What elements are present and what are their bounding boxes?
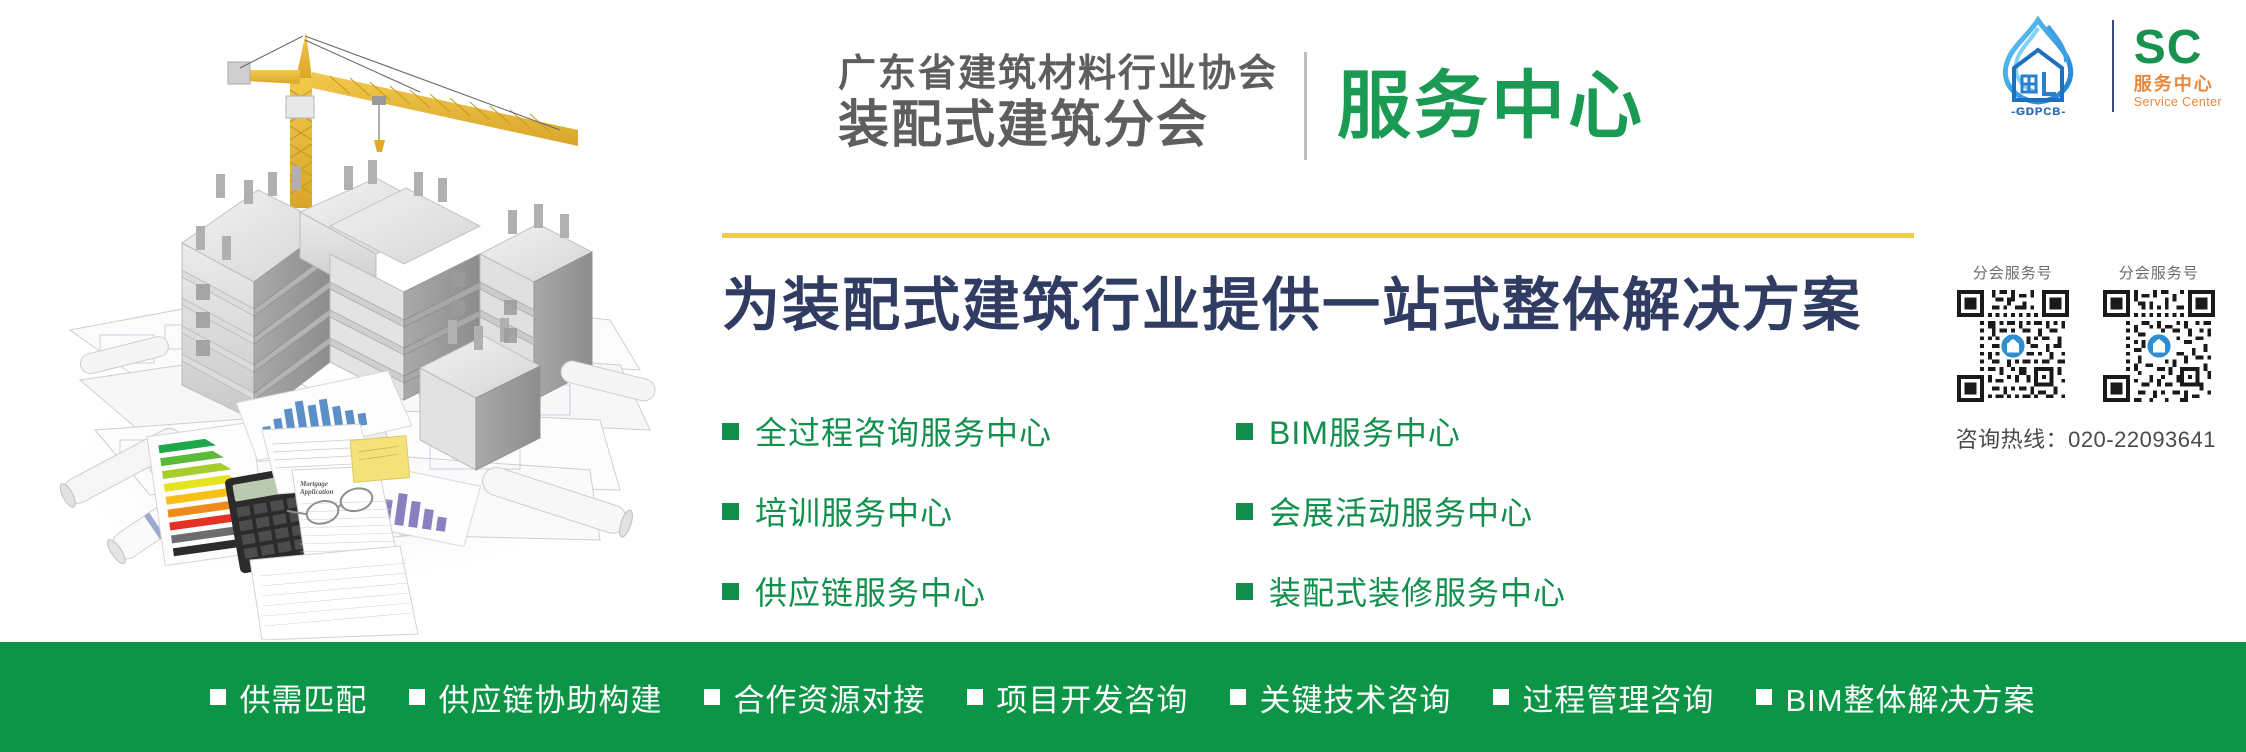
- footer-item[interactable]: 供需匹配: [210, 675, 367, 720]
- association-name-line1: 广东省建筑材料行业协会: [838, 52, 1278, 96]
- qr-code-cell[interactable]: 分会服务号: [2103, 262, 2215, 402]
- service-column-left: 全过程咨询服务中心 培训服务中心 供应链服务中心: [722, 408, 1052, 614]
- qr-caption: 分会服务号: [1973, 262, 2053, 283]
- gdpcb-abbr-label: -GDPCB-: [1986, 106, 2092, 118]
- service-item-label: 会展活动服务中心: [1269, 488, 1533, 534]
- yellow-divider-rule: [722, 233, 1914, 238]
- sc-initials: SC: [2134, 24, 2203, 72]
- bullet-square-icon: [1236, 583, 1253, 600]
- tower-crane: [228, 32, 578, 208]
- bullet-square-icon: [722, 503, 739, 520]
- bullet-square-icon: [722, 583, 739, 600]
- footer-item[interactable]: BIM整体解决方案: [1756, 675, 2035, 720]
- construction-site-illustration: Mortgage Application: [0, 0, 660, 640]
- qr-code-cell[interactable]: 分会服务号: [1957, 262, 2069, 402]
- gdpcb-house-flame-logo-icon: -GDPCB- -GDPCB-: [1986, 14, 2092, 118]
- footer-item-label: 关键技术咨询: [1259, 675, 1451, 720]
- bullet-square-icon: [210, 689, 226, 705]
- sc-logo-text-group: SC 服务中心 Service Center: [2134, 24, 2222, 109]
- bullet-square-icon: [1230, 689, 1246, 705]
- svg-text:Mortgage: Mortgage: [299, 480, 328, 488]
- footer-item-label: 供应链协助构建: [438, 675, 662, 720]
- footer-service-bar: 供需匹配 供应链协助构建 合作资源对接 项目开发咨询 关键技术咨询 过程管理咨询…: [0, 642, 2246, 752]
- footer-item[interactable]: 合作资源对接: [704, 675, 925, 720]
- bullet-square-icon: [967, 689, 983, 705]
- qr-contact-block: 分会服务号: [1956, 262, 2216, 454]
- association-branch-name: 装配式建筑分会: [838, 96, 1278, 153]
- service-center-list: 全过程咨询服务中心 培训服务中心 供应链服务中心 BIM服务中心 会展活动服务中…: [722, 408, 1566, 614]
- bullet-square-icon: [722, 423, 739, 440]
- bullet-square-icon: [704, 689, 720, 705]
- qr-caption: 分会服务号: [2119, 262, 2199, 283]
- service-column-right: BIM服务中心 会展活动服务中心 装配式装修服务中心: [1236, 408, 1566, 614]
- qr-code-image-1[interactable]: [1957, 290, 2069, 402]
- association-name-lines: 广东省建筑材料行业协会 装配式建筑分会: [838, 52, 1278, 153]
- bullet-square-icon: [1236, 423, 1253, 440]
- service-item-label: 全过程咨询服务中心: [755, 408, 1052, 454]
- bullet-square-icon: [409, 689, 425, 705]
- service-item[interactable]: 会展活动服务中心: [1236, 488, 1566, 534]
- banner-root: Mortgage Application: [0, 0, 2246, 752]
- service-item[interactable]: 装配式装修服务中心: [1236, 568, 1566, 614]
- service-item-label: 供应链服务中心: [755, 568, 986, 614]
- bullet-square-icon: [1756, 689, 1772, 705]
- service-item-label: 培训服务中心: [755, 488, 953, 534]
- sc-chinese-label: 服务中心: [2134, 75, 2214, 93]
- footer-item[interactable]: 关键技术咨询: [1230, 675, 1451, 720]
- bullet-square-icon: [1236, 503, 1253, 520]
- footer-item[interactable]: 过程管理咨询: [1493, 675, 1714, 720]
- service-item-label: BIM服务中心: [1269, 408, 1461, 454]
- footer-item-label: 供需匹配: [239, 675, 367, 720]
- svg-text:Application: Application: [299, 488, 334, 496]
- main-headline: 为装配式建筑行业提供一站式整体解决方案: [722, 258, 1862, 342]
- logo-vertical-divider: [2112, 20, 2114, 112]
- title-vertical-divider: [1304, 52, 1307, 160]
- hotline-text: 咨询热线：020-22093641: [1956, 422, 2216, 454]
- association-title-block: 广东省建筑材料行业协会 装配式建筑分会 服务中心: [838, 46, 1645, 160]
- footer-item[interactable]: 供应链协助构建: [409, 675, 662, 720]
- sc-english-label: Service Center: [2134, 96, 2222, 109]
- footer-item-label: 合作资源对接: [733, 675, 925, 720]
- qr-code-image-2[interactable]: [2103, 290, 2215, 402]
- footer-item-label: 项目开发咨询: [996, 675, 1188, 720]
- bullet-square-icon: [1493, 689, 1509, 705]
- service-center-heading: 服务中心: [1337, 69, 1645, 143]
- footer-item-label: BIM整体解决方案: [1785, 675, 2035, 720]
- service-item[interactable]: BIM服务中心: [1236, 408, 1566, 454]
- footer-item-label: 过程管理咨询: [1522, 675, 1714, 720]
- service-item[interactable]: 供应链服务中心: [722, 568, 1052, 614]
- service-item[interactable]: 培训服务中心: [722, 488, 1052, 534]
- qr-code-row: 分会服务号: [1957, 262, 2215, 402]
- service-item[interactable]: 全过程咨询服务中心: [722, 408, 1052, 454]
- service-item-label: 装配式装修服务中心: [1269, 568, 1566, 614]
- sticky-note: [350, 436, 409, 483]
- footer-item[interactable]: 项目开发咨询: [967, 675, 1188, 720]
- logo-block: -GDPCB- -GDPCB- SC 服务中心 Service Center: [1986, 14, 2222, 118]
